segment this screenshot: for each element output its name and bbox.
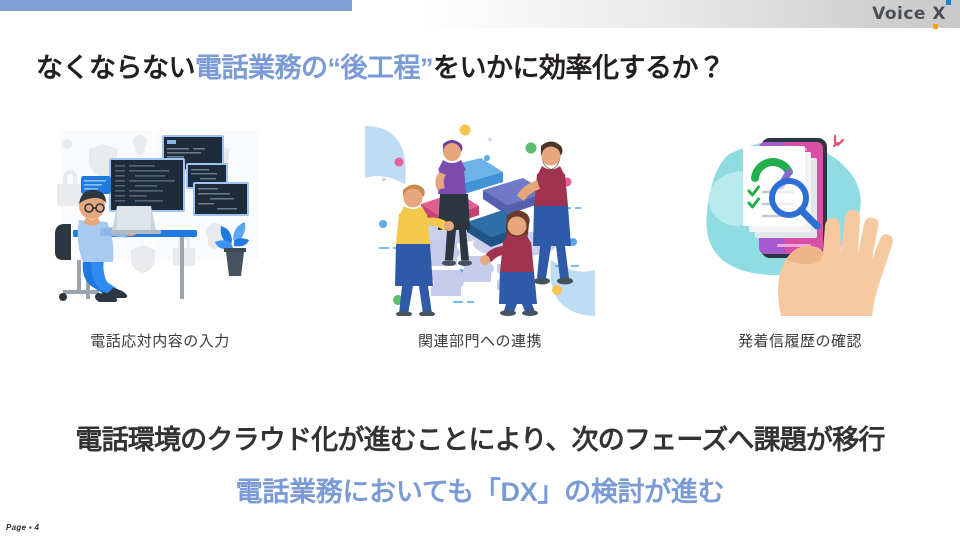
voicex-logo: Voice X bbox=[872, 2, 946, 26]
page-number: Page ▪ 4 bbox=[6, 523, 39, 532]
caption-panel-2: 関連部門への連携 bbox=[320, 330, 640, 351]
logo-text: Voice X bbox=[872, 6, 946, 23]
svg-text:✳: ✳ bbox=[381, 176, 387, 184]
conclusion-line-2: 電話業務においても「DX」の検討が進む bbox=[0, 470, 960, 509]
panel-2: ✳✳✳ bbox=[320, 120, 640, 320]
svg-text:✳: ✳ bbox=[487, 136, 493, 144]
panel-3 bbox=[640, 120, 960, 320]
title-highlight: 電話業務の“後工程” bbox=[195, 53, 433, 83]
caption-panel-3: 発着信履歴の確認 bbox=[640, 330, 960, 351]
developer-at-desk-illustration bbox=[45, 120, 275, 316]
title-part-2: をいかに効率化するか？ bbox=[433, 53, 725, 83]
caption-panel-1: 電話応対内容の入力 bbox=[0, 330, 320, 351]
header-blue-accent-bar bbox=[0, 0, 352, 11]
logo-orange-square-icon bbox=[933, 24, 938, 29]
panel-1 bbox=[0, 120, 320, 320]
title-part-1: なくならない bbox=[36, 53, 195, 83]
hand-holding-phone-checklist-illustration bbox=[685, 120, 915, 316]
illustration-row: ✳✳✳ bbox=[0, 120, 960, 320]
slide-title: なくならない電話業務の“後工程”をいかに効率化するか？ bbox=[36, 46, 725, 85]
logo-blue-square-icon bbox=[946, 0, 951, 5]
caption-row: 電話応対内容の入力 関連部門への連携 発着信履歴の確認 bbox=[0, 330, 960, 351]
conclusion-line-1: 電話環境のクラウド化が進むことにより、次のフェーズへ課題が移行 bbox=[0, 418, 960, 457]
team-puzzle-pieces-illustration: ✳✳✳ bbox=[365, 120, 595, 316]
